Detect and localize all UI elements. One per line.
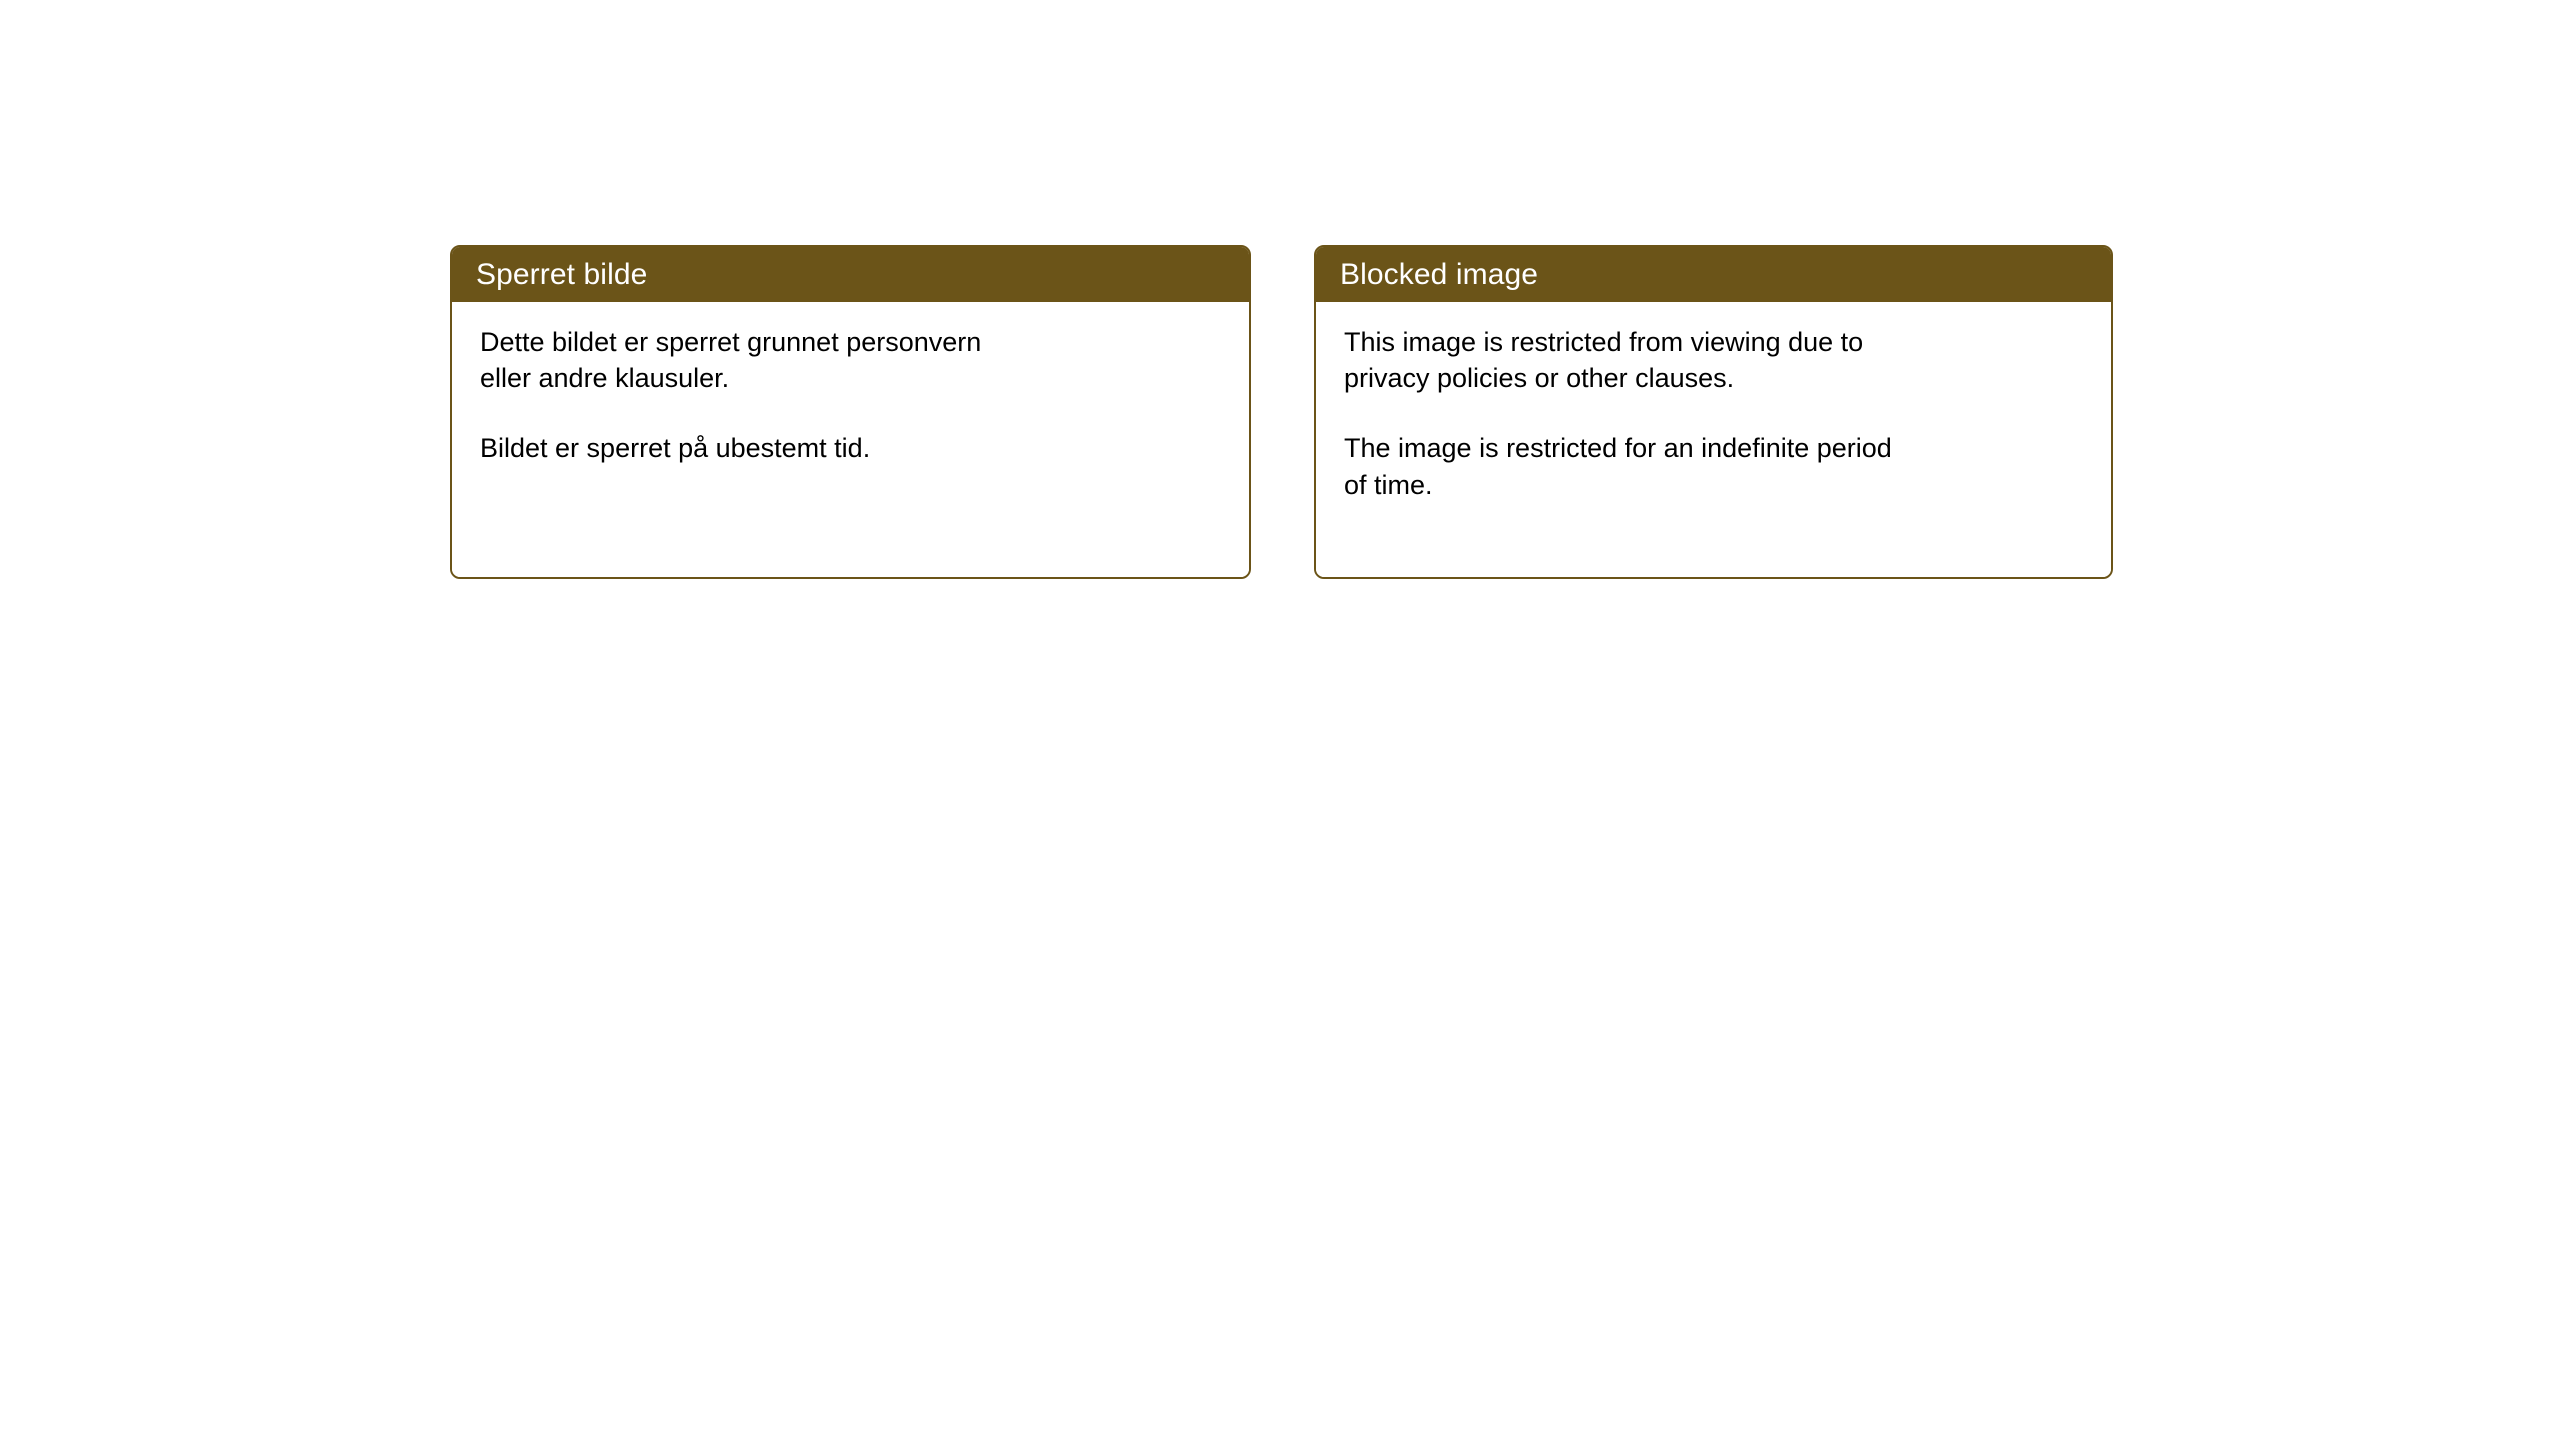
notice-title-english: Blocked image (1316, 247, 2111, 302)
notice-body-english: This image is restricted from viewing du… (1316, 302, 2111, 577)
notice-body-norwegian: Dette bildet er sperret grunnet personve… (452, 302, 1249, 577)
page-canvas: Sperret bilde Dette bildet er sperret gr… (0, 0, 2560, 1440)
blocked-image-notice-norwegian: Sperret bilde Dette bildet er sperret gr… (450, 245, 1251, 579)
blocked-image-notices: Sperret bilde Dette bildet er sperret gr… (450, 245, 2113, 579)
notice-paragraph-duration-norwegian: Bildet er sperret på ubestemt tid. (480, 430, 1225, 466)
notice-paragraph-reason-english: This image is restricted from viewing du… (1344, 324, 2087, 396)
notice-title-norwegian: Sperret bilde (452, 247, 1249, 302)
blocked-image-notice-english: Blocked image This image is restricted f… (1314, 245, 2113, 579)
notice-paragraph-duration-english: The image is restricted for an indefinit… (1344, 430, 2087, 502)
notice-paragraph-reason-norwegian: Dette bildet er sperret grunnet personve… (480, 324, 1225, 396)
